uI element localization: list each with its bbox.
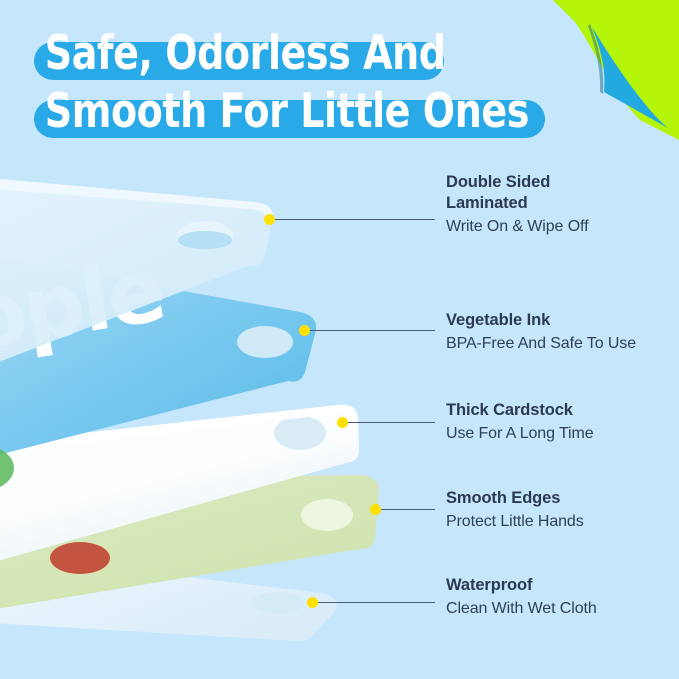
callout-smooth-edges: Smooth Edges Protect Little Hands (446, 488, 584, 532)
card-art-red-blob (50, 542, 110, 574)
leader-line-double-sided-laminated (275, 219, 435, 220)
callout-title-smooth-edges: Smooth Edges (446, 488, 584, 509)
callout-vegetable-ink: Vegetable Ink BPA-Free And Safe To Use (446, 310, 636, 354)
callout-subtitle-vegetable-ink: BPA-Free And Safe To Use (446, 333, 636, 354)
callout-waterproof: Waterproof Clean With Wet Cloth (446, 575, 597, 619)
callout-double-sided-laminated: Double Sided Laminated Write On & Wipe O… (446, 172, 588, 237)
callout-subtitle-waterproof: Clean With Wet Cloth (446, 598, 597, 619)
leader-line-vegetable-ink (310, 330, 435, 331)
corner-curl-triangle (592, 27, 668, 128)
leader-line-thick-cardstock (348, 422, 435, 423)
headline-block: Safe, Odorless And Smooth For Little One… (34, 28, 594, 144)
callout-subtitle-smooth-edges: Protect Little Hands (446, 511, 584, 532)
callout-dot-waterproof (307, 597, 318, 608)
headline-line-1-text: Safe, Odorless And (34, 28, 538, 80)
callout-dot-thick-cardstock (337, 417, 348, 428)
callout-title-vegetable-ink: Vegetable Ink (446, 310, 636, 331)
headline-line-1: Safe, Odorless And (34, 28, 594, 80)
headline-line-2: Smooth For Little Ones (34, 86, 594, 138)
callout-title-double-sided-laminated: Double Sided Laminated (446, 172, 588, 214)
callout-subtitle-thick-cardstock: Use For A Long Time (446, 423, 594, 444)
product-feature-infographic: Safe, Odorless And Smooth For Little One… (0, 0, 679, 679)
callout-thick-cardstock: Thick Cardstock Use For A Long Time (446, 400, 594, 444)
leader-line-waterproof (318, 602, 435, 603)
callout-subtitle-double-sided-laminated: Write On & Wipe Off (446, 216, 588, 237)
product-flashcard-stack: pple (0, 150, 480, 650)
leader-line-smooth-edges (381, 509, 435, 510)
callout-dot-smooth-edges (370, 504, 381, 515)
callout-title-thick-cardstock: Thick Cardstock (446, 400, 594, 421)
callout-dot-vegetable-ink (299, 325, 310, 336)
callout-title-waterproof: Waterproof (446, 575, 597, 596)
headline-line-2-text: Smooth For Little Ones (34, 86, 538, 138)
callout-dot-double-sided-laminated (264, 214, 275, 225)
